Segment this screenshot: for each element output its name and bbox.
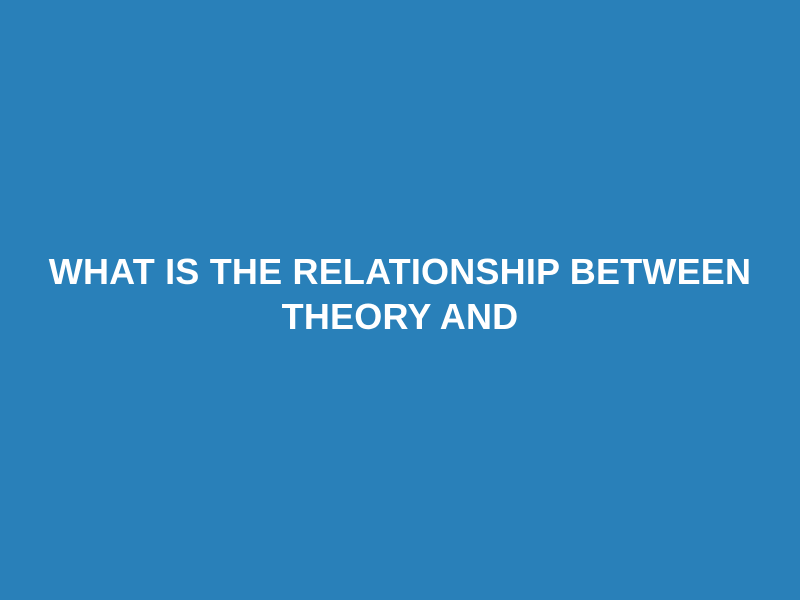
- page-title-line-2: THEORY AND: [40, 294, 760, 339]
- page-title-line-1: WHAT IS THE RELATIONSHIP BETWEEN: [40, 249, 760, 294]
- hero-card: WHAT IS THE RELATIONSHIP BETWEEN THEORY …: [0, 0, 800, 600]
- page-title: WHAT IS THE RELATIONSHIP BETWEEN THEORY …: [0, 249, 800, 339]
